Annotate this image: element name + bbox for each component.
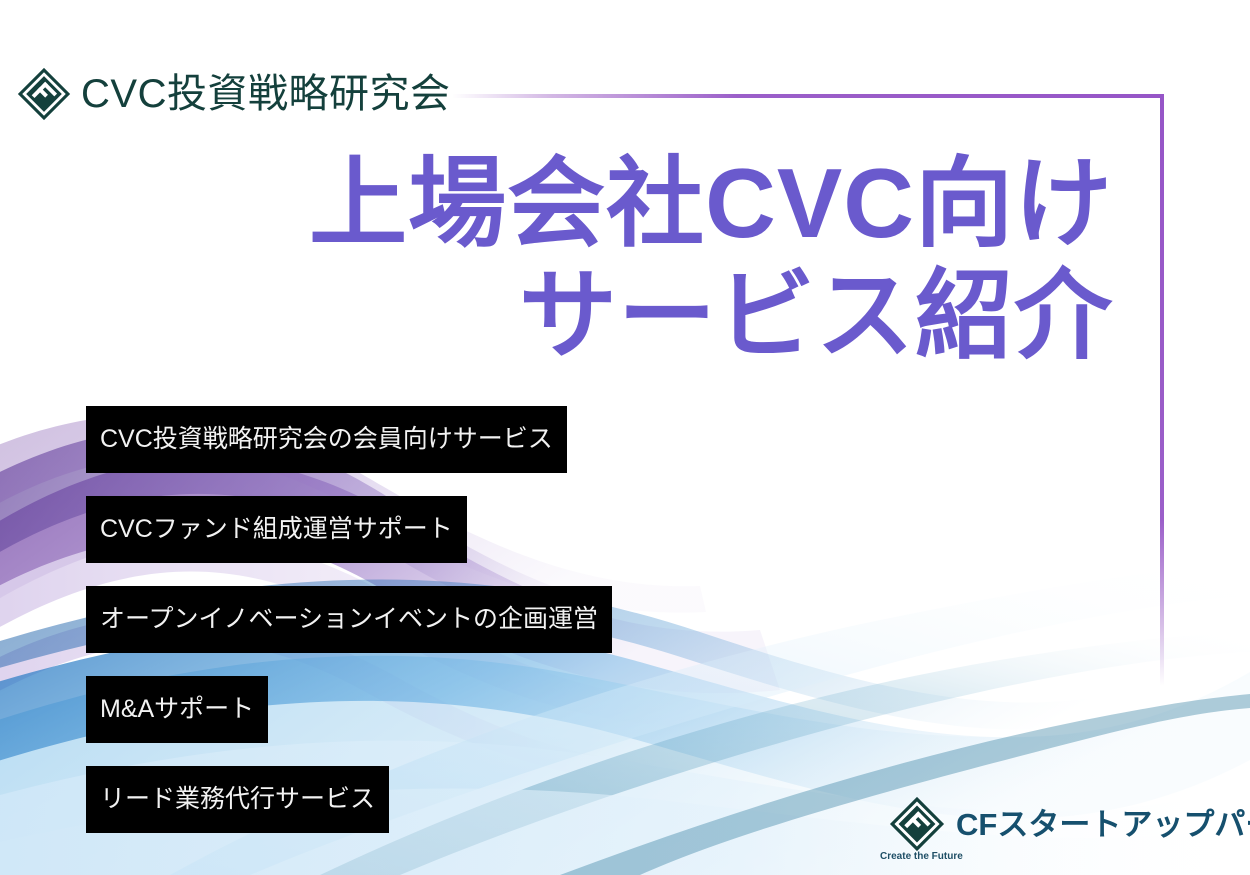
- service-item-member-services[interactable]: CVC投資戦略研究会の会員向けサービス: [86, 406, 567, 473]
- service-item-label: リード業務代行サービス: [100, 787, 375, 812]
- service-item-label: M&Aサポート: [100, 697, 254, 722]
- organization-name: CVC投資戦略研究会: [81, 74, 450, 114]
- title-line-1: 上場会社CVC向け: [0, 148, 1113, 260]
- service-item-fund-support[interactable]: CVCファンド組成運営サポート: [86, 496, 467, 563]
- accent-rule-horizontal: [452, 94, 1164, 98]
- service-item-ma-support[interactable]: M&Aサポート: [86, 676, 268, 743]
- cf-diamond-logo-icon: [16, 66, 72, 122]
- company-logo-lockup: Create the Future CFスタートアップパートナーズ: [888, 795, 1250, 871]
- title-line-2: サービス紹介: [0, 260, 1113, 372]
- service-item-label: オープンイノベーションイベントの企画運営: [100, 607, 598, 632]
- service-item-label: CVCファンド組成運営サポート: [100, 517, 453, 542]
- company-tagline: Create the Future: [880, 852, 963, 862]
- header-logo-lockup: CVC投資戦略研究会: [16, 66, 450, 122]
- company-name: CFスタートアップパートナーズ: [956, 809, 1250, 840]
- page-title: 上場会社CVC向け サービス紹介: [0, 148, 1113, 371]
- presentation-slide: CVC投資戦略研究会 上場会社CVC向け サービス紹介 CVC投資戦略研究会の会…: [0, 0, 1250, 875]
- service-list: CVC投資戦略研究会の会員向けサービス CVCファンド組成運営サポート オープン…: [86, 406, 612, 833]
- service-item-open-innovation-events[interactable]: オープンイノベーションイベントの企画運営: [86, 586, 612, 653]
- service-item-lead-outsourcing[interactable]: リード業務代行サービス: [86, 766, 389, 833]
- cf-diamond-logo-icon: [888, 795, 946, 853]
- service-item-label: CVC投資戦略研究会の会員向けサービス: [100, 427, 553, 452]
- accent-rule-vertical: [1160, 94, 1164, 686]
- company-mark-wrapper: Create the Future: [888, 795, 950, 871]
